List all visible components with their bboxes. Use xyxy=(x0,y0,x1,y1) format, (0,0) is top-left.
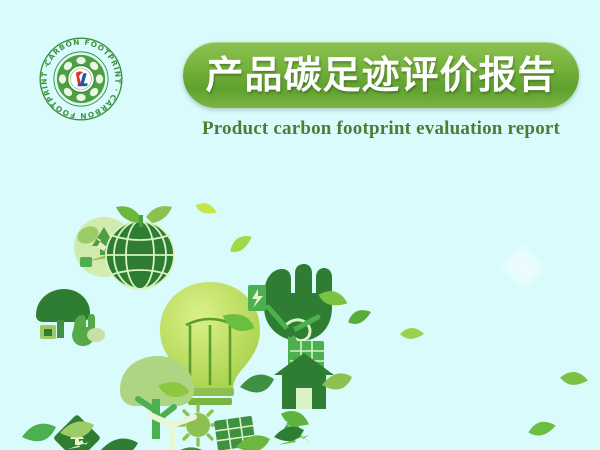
falling-leaf xyxy=(559,370,589,388)
footprint-icon-cluster xyxy=(22,206,352,450)
page-subtitle: Product carbon footprint evaluation repo… xyxy=(183,118,579,140)
battery-icon xyxy=(248,285,266,311)
globe-icon xyxy=(106,206,174,289)
seal-gear-pattern xyxy=(57,55,105,103)
falling-leaf xyxy=(400,327,425,340)
cover-header: CARBON FOOTPRINT · CARBON FOOTPRINT · xyxy=(0,0,600,160)
falling-leaf xyxy=(194,199,218,217)
sun-icon xyxy=(178,405,218,445)
page-title: 产品碳足迹评价报告 xyxy=(205,56,556,94)
carbon-footprint-seal-logo: CARBON FOOTPRINT · CARBON FOOTPRINT · xyxy=(38,36,124,122)
falling-leaf xyxy=(346,307,374,327)
report-title-banner: 产品碳足迹评价报告 xyxy=(183,42,579,108)
eco-icons-footprint-collage xyxy=(0,175,600,450)
falling-leaf xyxy=(527,420,557,438)
tree-icon-group xyxy=(36,289,105,346)
house-icon xyxy=(274,353,334,409)
report-cover-page: CARBON FOOTPRINT · CARBON FOOTPRINT · xyxy=(0,0,600,450)
falling-leaf xyxy=(226,232,255,255)
